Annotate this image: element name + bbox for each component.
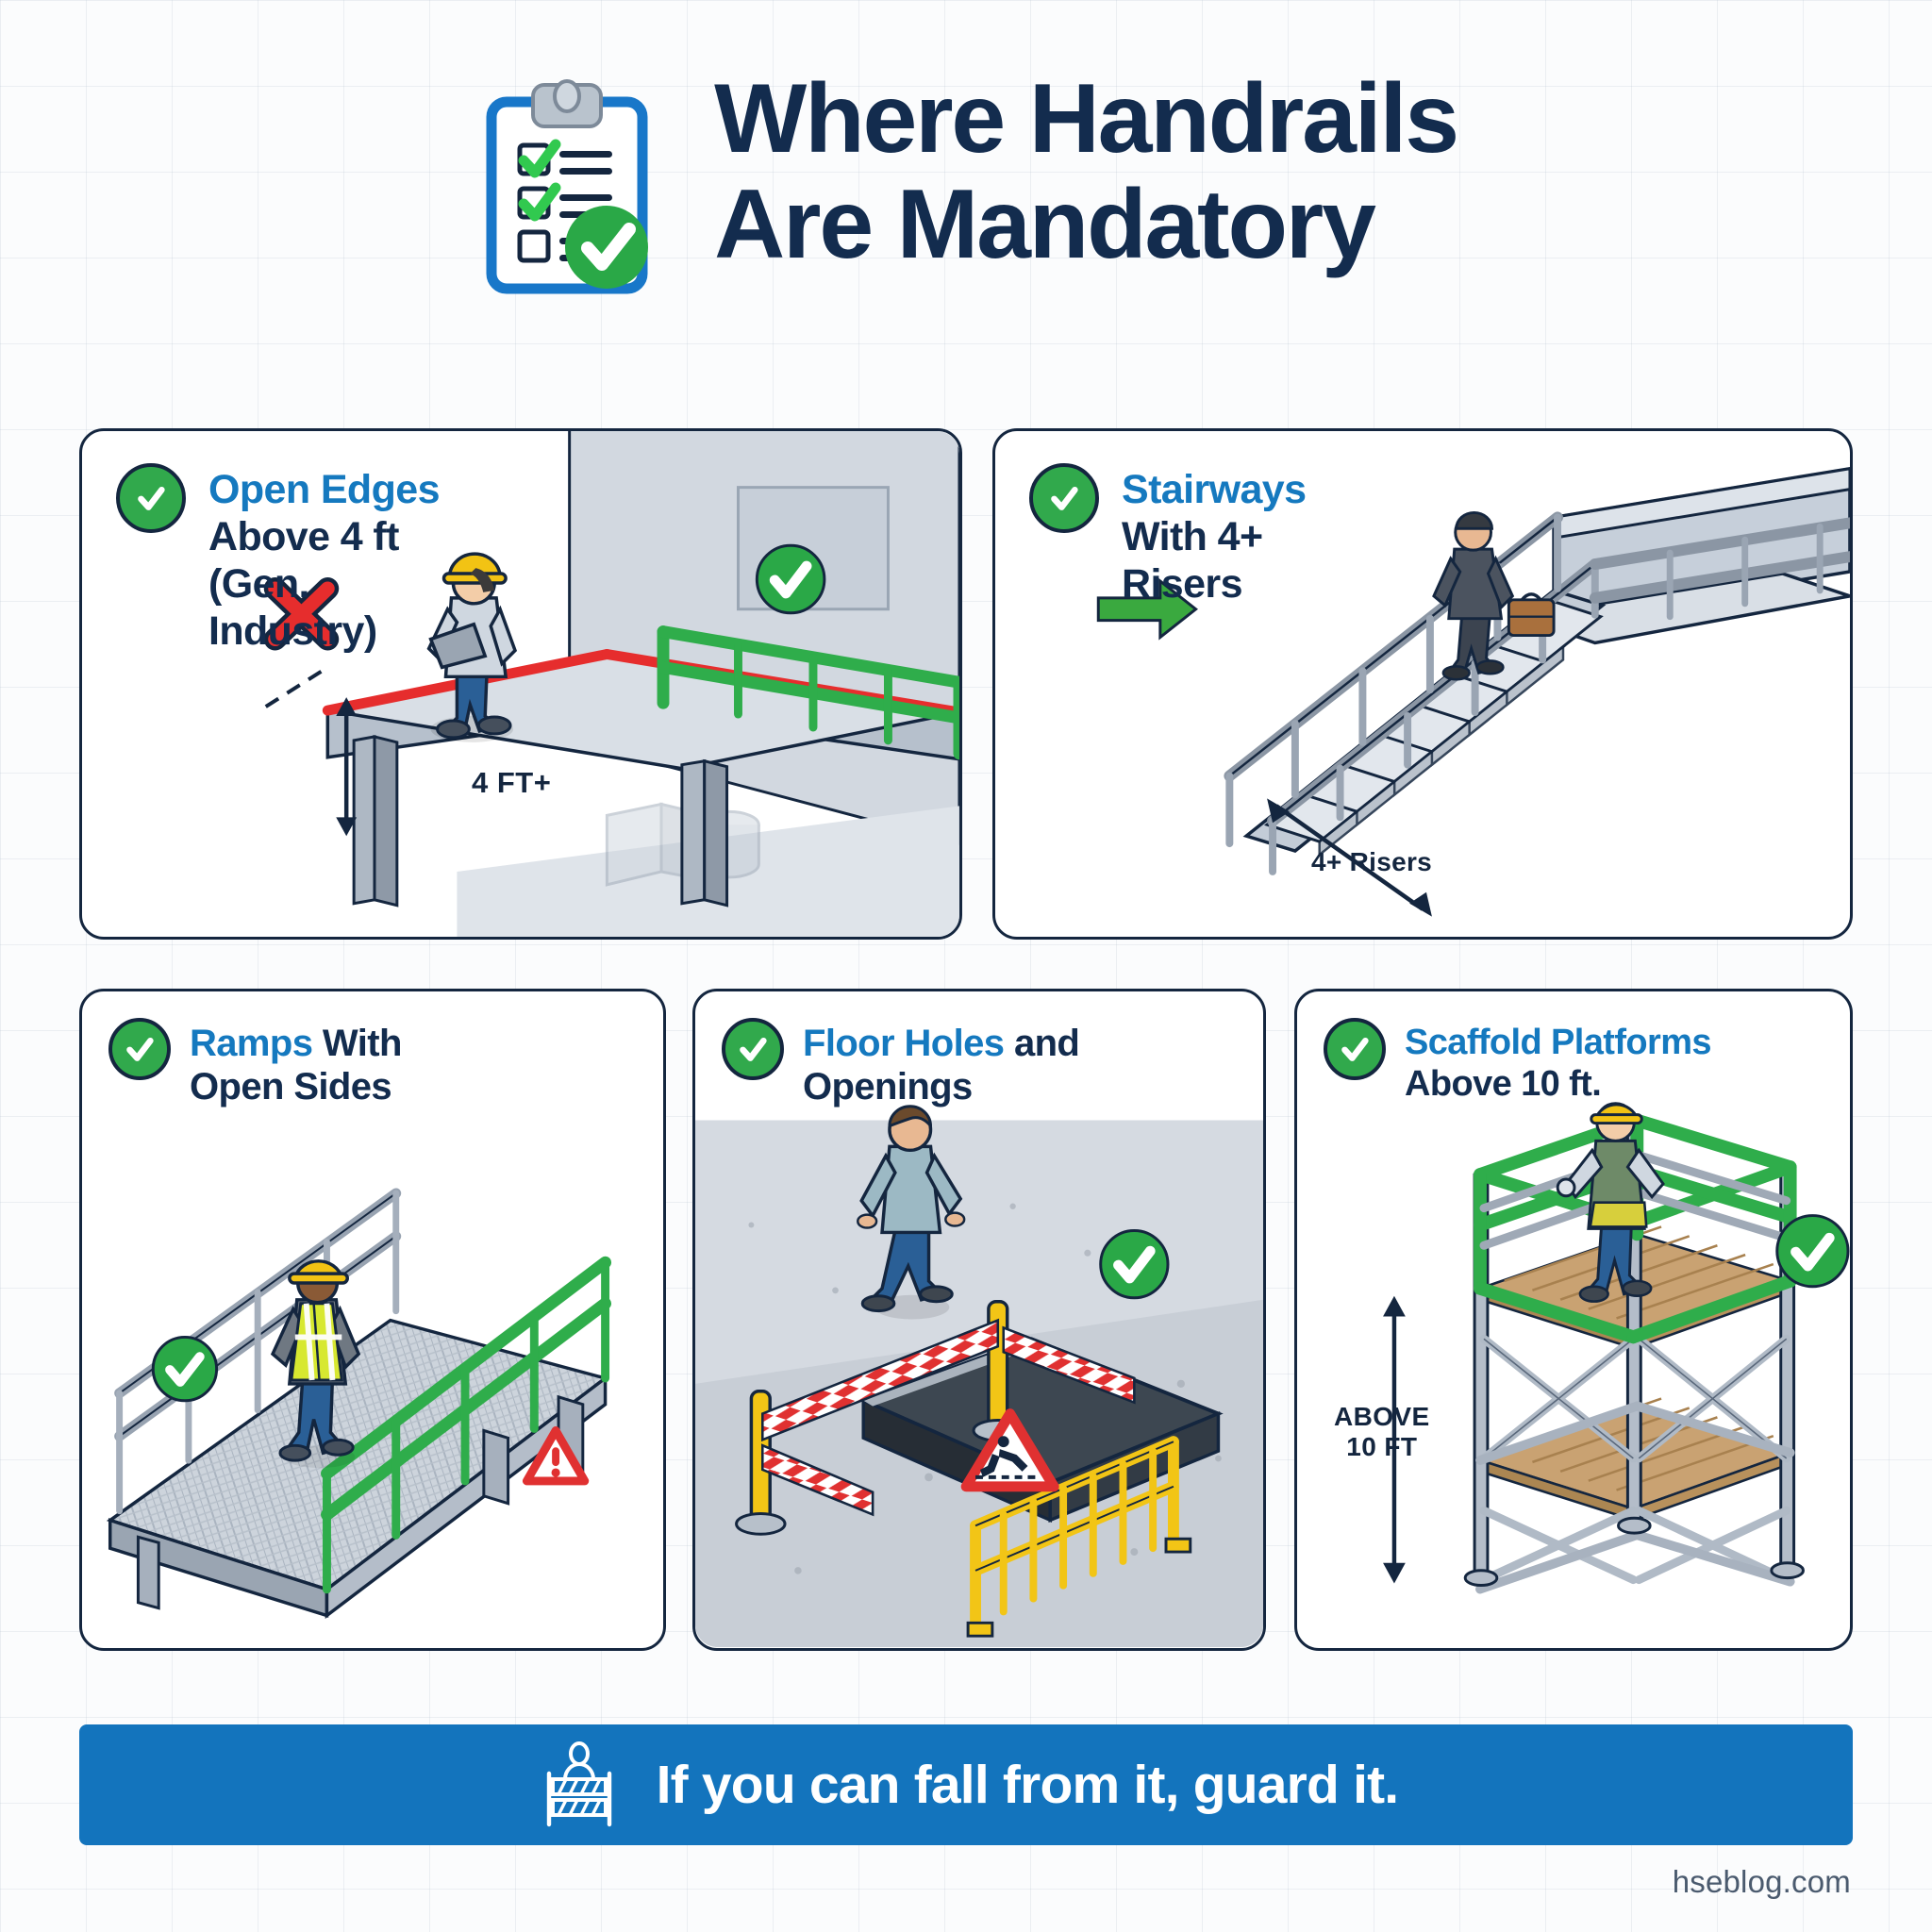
card-title-blue: Stairways xyxy=(1122,467,1306,512)
card-header-ramps: Ramps With Open Sides xyxy=(108,1018,501,1109)
green-check-circle-icon xyxy=(116,463,186,533)
card-floor-holes[interactable]: Floor Holes and Openings xyxy=(692,989,1266,1651)
card-ramps[interactable]: Ramps With Open Sides xyxy=(79,989,666,1651)
green-check-circle-icon xyxy=(1324,1018,1386,1080)
card-header-stairways: Stairways With 4+ Risers xyxy=(1029,463,1357,608)
card-header-floor-holes: Floor Holes and Openings xyxy=(722,1018,1114,1109)
card-title-blue: Floor Holes xyxy=(803,1023,1004,1064)
infographic-page: Where Handrails Are Mandatory xyxy=(0,0,1932,1932)
title-line-2: Are Mandatory xyxy=(714,172,1457,277)
green-check-circle-icon xyxy=(1029,463,1099,533)
card-title-blue: Open Edges xyxy=(208,467,440,512)
dimension-label-risers: 4+ Risers xyxy=(1311,847,1432,877)
card-title-blue: Scaffold Platforms xyxy=(1405,1023,1711,1062)
card-title-dark: Above 10 ft. xyxy=(1405,1064,1601,1104)
card-header-open-edges: Open Edges Above 4 ft (Gen. Industry) xyxy=(116,463,444,656)
card-header-scaffold: Scaffold Platforms Above 10 ft. xyxy=(1324,1018,1782,1105)
card-scaffold[interactable]: Scaffold Platforms Above 10 ft. xyxy=(1294,989,1853,1651)
page-title: Where Handrails Are Mandatory xyxy=(714,66,1457,278)
green-check-circle-icon xyxy=(108,1018,171,1080)
card-title-blue: Ramps xyxy=(190,1023,312,1064)
guardrail-barrier-icon xyxy=(534,1738,625,1833)
green-check-circle-icon xyxy=(722,1018,784,1080)
header: Where Handrails Are Mandatory xyxy=(0,66,1932,307)
card-title-ramps: Ramps With Open Sides xyxy=(190,1018,501,1109)
site-credit: hseblog.com xyxy=(1673,1864,1851,1900)
card-title-dark: Above 4 ft (Gen. Industry) xyxy=(208,514,399,654)
card-title-stairways: Stairways With 4+ Risers xyxy=(1122,463,1357,608)
footer-slogan: If you can fall from it, guard it. xyxy=(657,1754,1399,1816)
title-line-1: Where Handrails xyxy=(714,66,1457,172)
card-title-dark: With 4+ Risers xyxy=(1122,514,1263,607)
card-title-floor-holes: Floor Holes and Openings xyxy=(803,1018,1114,1109)
card-title-scaffold: Scaffold Platforms Above 10 ft. xyxy=(1405,1018,1782,1105)
card-title-open-edges: Open Edges Above 4 ft (Gen. Industry) xyxy=(208,463,444,656)
footer-banner: If you can fall from it, guard it. xyxy=(79,1724,1853,1845)
card-open-edges[interactable]: Open Edges Above 4 ft (Gen. Industry) xyxy=(79,428,962,940)
clipboard-checklist-icon xyxy=(475,75,673,307)
dimension-label-4ft: 4 FT+ xyxy=(472,766,551,800)
dimension-label-above-10ft: ABOVE 10 FT xyxy=(1334,1402,1430,1462)
